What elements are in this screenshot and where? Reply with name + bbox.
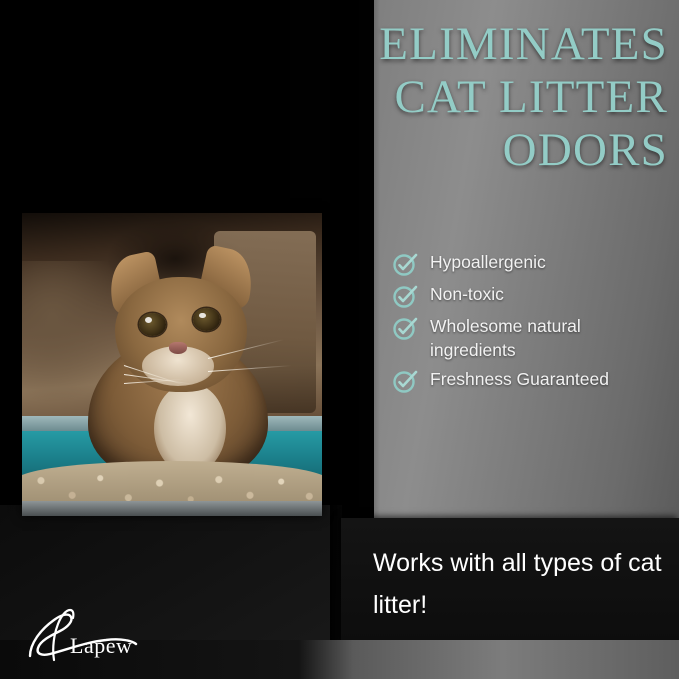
headline: ELIMINATES CAT LITTER ODORS — [268, 18, 668, 177]
kitten-chest — [154, 383, 226, 474]
benefit-item: Freshness Guaranteed — [392, 367, 672, 394]
litter-box-base — [22, 501, 322, 516]
benefit-list: Hypoallergenic Non-toxic Wholesome natur… — [392, 250, 672, 399]
benefit-label: Wholesome natural ingredients — [430, 314, 662, 362]
callout-text: Works with all types of cat litter! — [373, 542, 663, 626]
check-circle-icon — [392, 368, 418, 394]
headline-line-1: ELIMINATES — [268, 18, 668, 71]
benefit-item: Wholesome natural ingredients — [392, 314, 672, 362]
kitten-photo — [22, 213, 322, 516]
headline-line-3: ODORS — [268, 124, 668, 177]
check-circle-icon — [392, 315, 418, 341]
product-ad: ELIMINATES CAT LITTER ODORS — [0, 0, 679, 679]
kitten-nose — [169, 342, 187, 354]
check-circle-icon — [392, 251, 418, 277]
brand-name: Lapew — [70, 633, 132, 659]
brand-logo: Lapew — [24, 604, 174, 664]
benefit-item: Hypoallergenic — [392, 250, 672, 277]
callout-panel: Works with all types of cat litter! — [341, 518, 679, 642]
kitten-eye-left — [139, 313, 166, 336]
check-circle-icon — [392, 283, 418, 309]
benefit-item: Non-toxic — [392, 282, 672, 309]
benefit-label: Hypoallergenic — [430, 250, 546, 274]
headline-line-2: CAT LITTER — [268, 71, 668, 124]
kitten-eye-right — [193, 308, 220, 331]
benefit-label: Freshness Guaranteed — [430, 367, 609, 391]
benefit-label: Non-toxic — [430, 282, 504, 306]
